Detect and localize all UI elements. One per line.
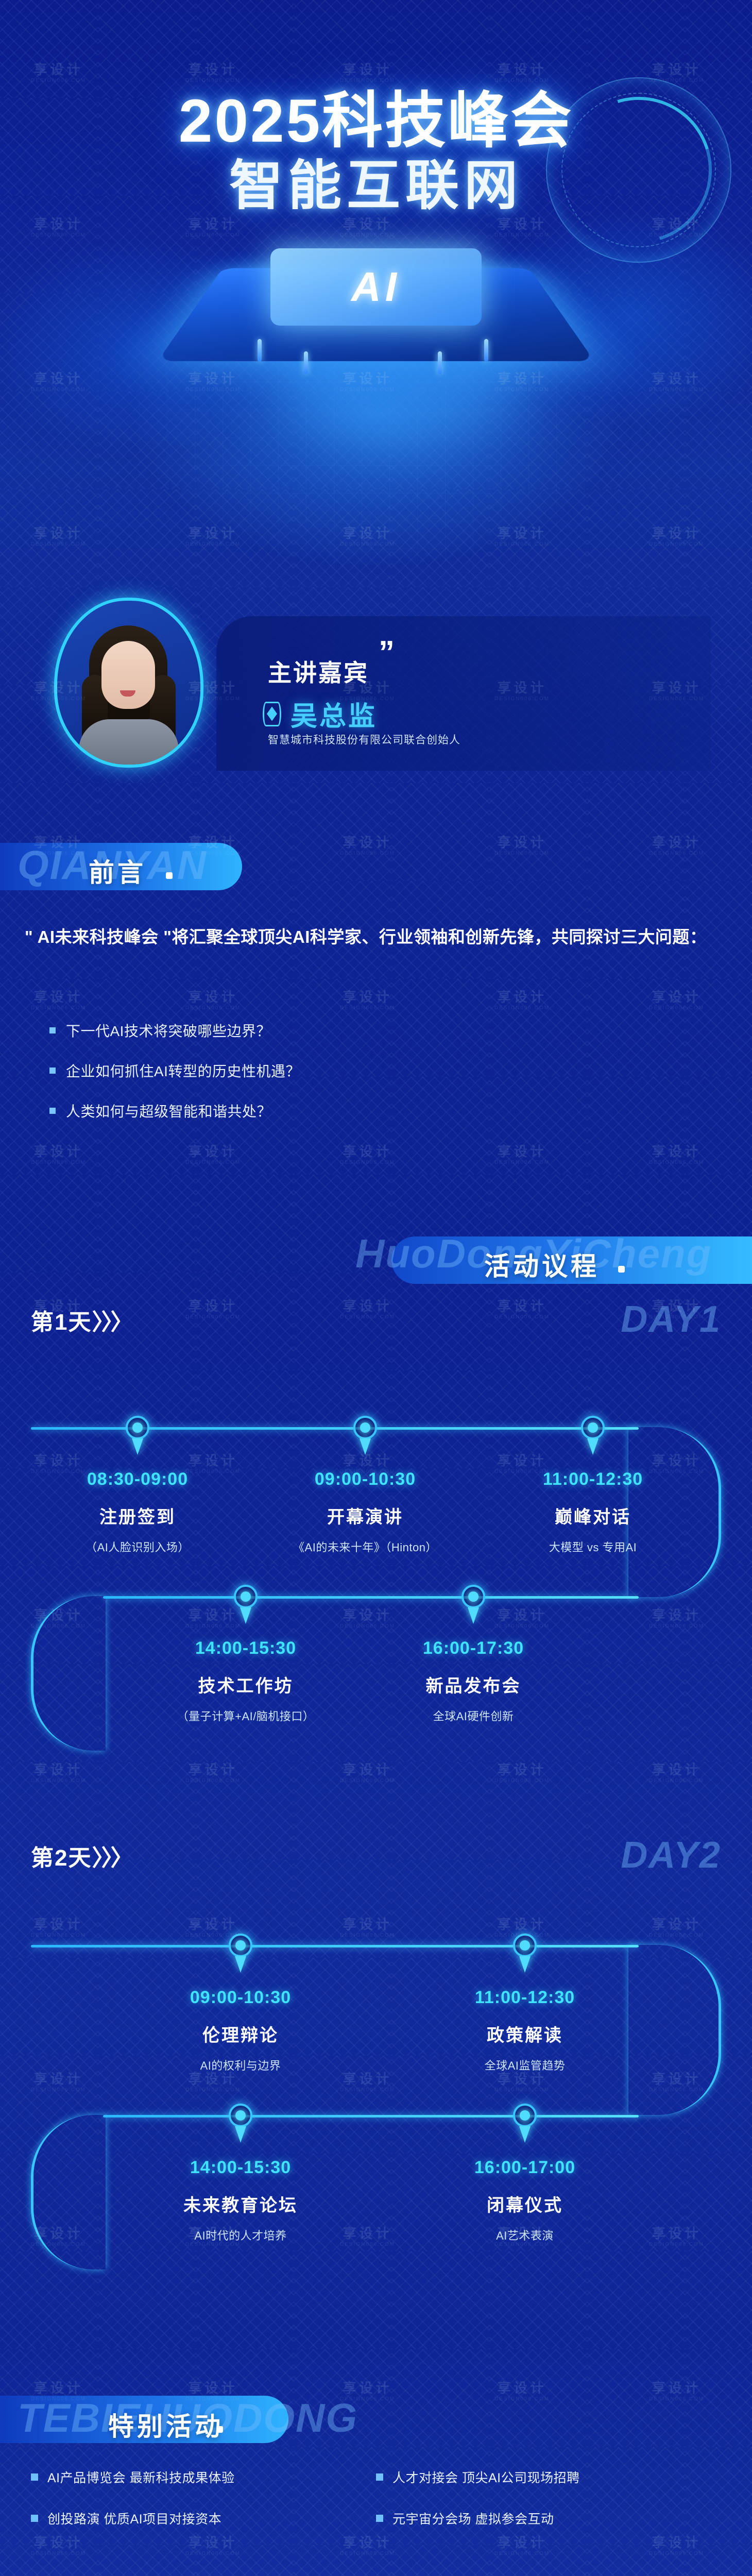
timeline-line [103,2115,639,2117]
special-activity-text: AI产品博览会 最新科技成果体验 [47,2468,235,2486]
agenda-item-title: 开幕演讲 [280,1503,450,1528]
agenda-item-sub: 《AI的未来十年》（Hinton） [280,1538,450,1555]
special-activities-list: AI产品博览会 最新科技成果体验 人才对接会 顶尖AI公司现场招聘 创投路演 优… [0,2468,752,2576]
speaker-organization: 智慧城市科技股份有限公司联合创始人 [268,732,460,747]
special-activity-text: 人才对接会 顶尖AI公司现场招聘 [392,2468,580,2486]
quote-mark-icon: ” [379,643,395,662]
agenda-item-title: 政策解读 [440,2021,610,2046]
agenda-item-time: 11:00-12:30 [508,1469,678,1489]
bullet-square-icon [31,2515,38,2522]
bullet-square-icon [31,2473,38,2481]
special-heading-cn: 特别活动 [108,2406,224,2443]
timeline-curve-left [31,1596,106,1751]
agenda-item-sub: 全球AI监管趋势 [440,2057,610,2073]
agenda-item-time: 14:00-15:30 [156,2158,326,2178]
speaker-avatar [54,598,203,768]
agenda-item-title: 注册签到 [53,1503,223,1528]
agenda-item: 11:00-12:30 巅峰对话 大模型 vs 专用AI [508,1469,678,1555]
special-grid: AI产品博览会 最新科技成果体验 人才对接会 顶尖AI公司现场招聘 创投路演 优… [31,2468,721,2550]
timeline-line [31,1945,639,1947]
special-heading-dot [216,2426,223,2433]
preface-question: 企业如何抓住AI转型的历史性机遇？ [66,1060,300,1081]
agenda-day1: 第1天〉〉〉 DAY1 08:30-09:00 注册签到 （AI人脸识别入场） … [0,1298,752,1834]
preface-question-list: 下一代AI技术将突破哪些边界？ 企业如何抓住AI转型的历史性机遇？ 人类如何与超… [49,1020,668,1141]
chip-ai-label: AI [351,263,401,311]
list-item: 人才对接会 顶尖AI公司现场招聘 [376,2468,721,2486]
agenda-heading-dot [618,1266,625,1273]
chip-pin [484,339,488,362]
chip-pin [258,339,262,362]
list-item: AI产品博览会 最新科技成果体验 [31,2468,376,2486]
bullet-square-icon [376,2473,383,2481]
day1-label-en: DAY1 [621,1298,721,1341]
agenda-item: 14:00-15:30 未来教育论坛 AI时代的人才培养 [156,2158,326,2243]
preface-heading-cn: 前言 [89,852,146,889]
timeline-marker [229,2104,252,2127]
agenda-item-time: 09:00-10:30 [156,1988,326,2008]
agenda-item-title: 技术工作坊 [161,1672,331,1697]
agenda-item-time: 09:00-10:30 [280,1469,450,1489]
preface-paragraph: " AI未来科技峰会 "将汇聚全球顶尖AI科学家、行业领袖和创新先锋，共同探讨三… [25,922,715,952]
agenda-item-time: 16:00-17:00 [440,2158,610,2178]
hero-section: AI 2025科技峰会 智能互联网 [0,0,752,577]
agenda-heading-cn: 活动议程 [484,1246,600,1283]
special-activity-text: 创投路演 优质AI项目对接资本 [47,2509,221,2528]
special-activity-text: 元宇宙分会场 虚拟参会互动 [392,2509,554,2528]
chip-pin [304,351,308,374]
hero-title-block: 2025科技峰会 智能互联网 [0,90,752,215]
timeline-line [103,1596,639,1599]
list-item: 元宇宙分会场 虚拟参会互动 [376,2509,721,2528]
list-item: 企业如何抓住AI转型的历史性机遇？ [49,1060,668,1081]
agenda-item: 08:30-09:00 注册签到 （AI人脸识别入场） [53,1469,223,1555]
preface-body: " AI未来科技峰会 "将汇聚全球顶尖AI科学家、行业领袖和创新先锋，共同探讨三… [0,922,752,1180]
diamond-icon [263,702,281,726]
timeline-marker [513,1934,537,1957]
chevron-right-icon: 〉〉〉 [92,1303,131,1336]
ai-chip-graphic: AI [196,222,556,392]
bullet-square-icon [376,2515,383,2522]
agenda-item: 14:00-15:30 技术工作坊 （量子计算+AI/脑机接口） [161,1638,331,1724]
agenda-item: 16:00-17:30 新品发布会 全球AI硬件创新 [388,1638,558,1724]
agenda-item-title: 未来教育论坛 [156,2191,326,2216]
bullet-square-icon [49,1108,56,1114]
timeline-curve-left [31,2115,106,2269]
timeline-curve-right [628,1945,721,2115]
timeline-marker [234,1585,258,1608]
agenda-heading: HuoDongYiCheng 活动议程 [0,1180,752,1298]
timeline-marker [513,2104,537,2127]
agenda-item-time: 16:00-17:30 [388,1638,558,1658]
table-row: AI产品博览会 最新科技成果体验 人才对接会 顶尖AI公司现场招聘 [31,2468,721,2509]
agenda-item: 09:00-10:30 开幕演讲 《AI的未来十年》（Hinton） [280,1469,450,1555]
preface-question: 人类如何与超级智能和谐共处？ [66,1100,271,1121]
preface-heading-dot [166,872,173,879]
poster-root: AI 2025科技峰会 智能互联网 主讲嘉宾 ” [0,0,752,2576]
agenda-item: 16:00-17:00 闭幕仪式 AI艺术表演 [440,2158,610,2243]
agenda-item-time: 14:00-15:30 [161,1638,331,1658]
agenda-item: 11:00-12:30 政策解读 全球AI监管趋势 [440,1988,610,2073]
timeline-marker [353,1416,377,1439]
agenda-day2: 第2天〉〉〉 DAY2 09:00-10:30 伦理辩论 AI的权利与边界 11… [0,1834,752,2349]
preface-question: 下一代AI技术将突破哪些边界？ [66,1020,271,1041]
speaker-name: 吴总监 [290,694,377,733]
special-heading: TEBIEHUODONG 特别活动 [0,2349,752,2468]
preface-heading: QIANYAN 前言 [0,819,752,922]
speaker-name-row: 吴总监 [263,694,377,733]
chip-pin [438,351,442,374]
table-row: 创投路演 优质AI项目对接资本 元宇宙分会场 虚拟参会互动 [31,2509,721,2550]
speaker-section: 主讲嘉宾 ” 吴总监 智慧城市科技股份有限公司联合创始人 [0,577,752,819]
agenda-item: 09:00-10:30 伦理辩论 AI的权利与边界 [156,1988,326,2073]
list-item: 创投路演 优质AI项目对接资本 [31,2509,376,2528]
day2-label-cn: 第2天〉〉〉 [31,1839,131,1872]
hero-title-line1: 2025科技峰会 [0,90,752,152]
bullet-square-icon [49,1027,56,1033]
timeline-marker [229,1934,252,1957]
agenda-item-title: 伦理辩论 [156,2021,326,2046]
list-item: 下一代AI技术将突破哪些边界？ [49,1020,668,1041]
hero-title-line2: 智能互联网 [0,158,752,214]
agenda-item-sub: 大模型 vs 专用AI [508,1538,678,1555]
timeline-marker [462,1585,485,1608]
day1-label-text: 第1天 [31,1310,92,1335]
agenda-item-sub: AI的权利与边界 [156,2057,326,2073]
portrait-body [79,719,179,768]
agenda-item-sub: （量子计算+AI/脑机接口） [161,1707,331,1724]
chip-surface: AI [270,248,482,326]
agenda-item-sub: 全球AI硬件创新 [388,1707,558,1724]
agenda-item-sub: AI艺术表演 [440,2227,610,2243]
bullet-square-icon [49,1067,56,1074]
timeline-marker [581,1416,605,1439]
speaker-card [216,616,711,771]
portrait-face [101,641,155,709]
day2-label-en: DAY2 [621,1834,721,1876]
agenda-item-title: 巅峰对话 [508,1503,678,1528]
day2-label-text: 第2天 [31,1845,92,1871]
chevron-right-icon: 〉〉〉 [92,1839,131,1872]
timeline-line [31,1427,639,1430]
agenda-item-sub: （AI人脸识别入场） [53,1538,223,1555]
agenda-item-title: 新品发布会 [388,1672,558,1697]
agenda-item-time: 08:30-09:00 [53,1469,223,1489]
list-item: 人类如何与超级智能和谐共处？ [49,1100,668,1121]
speaker-portrait-illustration [75,625,183,768]
agenda-item-title: 闭幕仪式 [440,2191,610,2216]
agenda-item-time: 11:00-12:30 [440,1988,610,2008]
speaker-role-label: 主讲嘉宾 [268,654,369,688]
timeline-marker [126,1416,149,1439]
agenda-item-sub: AI时代的人才培养 [156,2227,326,2243]
day1-label-cn: 第1天〉〉〉 [31,1303,131,1336]
